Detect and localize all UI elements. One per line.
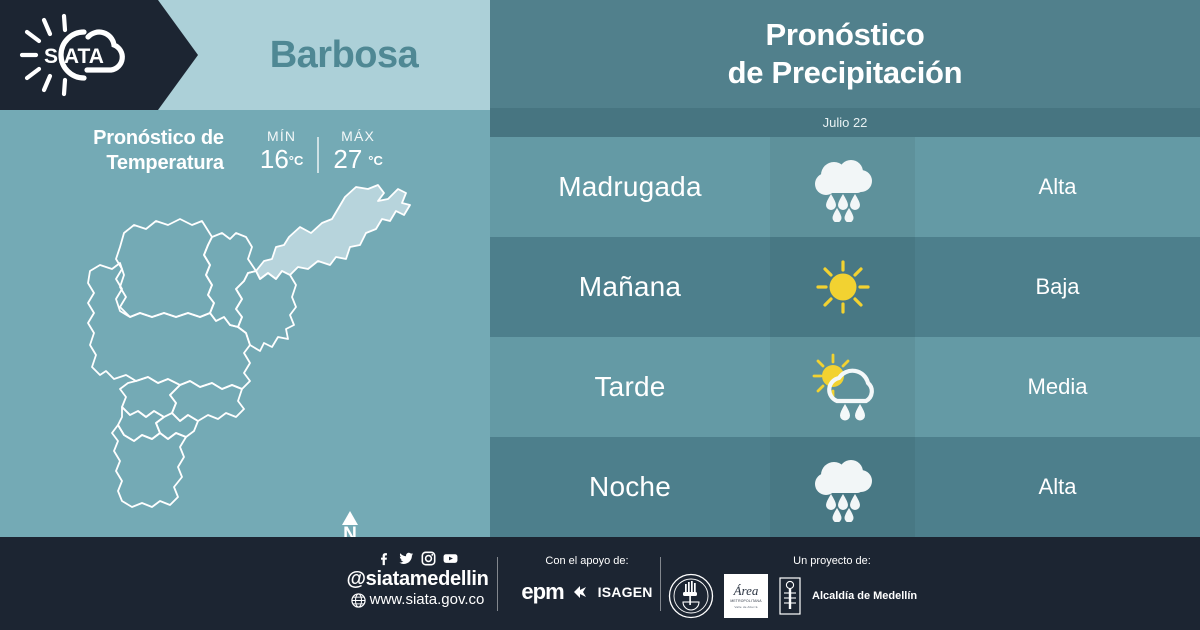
project-logos: Área METROPOLITANA Valle de Aburrá Alcal…	[668, 573, 948, 619]
footer-project-block: Un proyecto de:	[668, 555, 948, 619]
forecast-row[interactable]: Noche	[490, 437, 1200, 537]
footer-website: www.siata.gov.co	[370, 591, 485, 609]
temperature-max-label: MÁX	[341, 128, 375, 144]
forecast-rows: Madrugada	[490, 137, 1200, 537]
page-title: Barbosa	[198, 0, 490, 110]
temperature-summary: Pronóstico de Temperatura MÍN 16 °C MÁX …	[0, 118, 490, 184]
epm-logo: epm	[521, 579, 563, 605]
area-logo-name: Área	[734, 584, 759, 597]
isagen-mark-icon	[573, 585, 589, 599]
map-svg: N	[60, 175, 460, 537]
forecast-period: Tarde	[490, 371, 770, 403]
footer-handle[interactable]: @siatamedellin	[330, 568, 505, 591]
area-logo-sub1: METROPOLITANA	[730, 599, 761, 603]
temperature-max: MÁX 27 °C	[319, 128, 397, 175]
map-region-itagui[interactable]	[120, 377, 180, 417]
forecast-level: Media	[915, 374, 1200, 400]
alcaldia-crest-icon	[778, 576, 802, 616]
map-region-bello[interactable]	[116, 219, 214, 317]
sun-cloud-icon: SIATA	[14, 12, 142, 98]
map-region-envigado[interactable]	[170, 381, 244, 421]
footer: @siatamedellin www.siata.gov.co Con el a…	[0, 537, 1200, 630]
temperature-title-line1: Pronóstico de	[93, 126, 224, 151]
forecast-icon-cell	[770, 237, 915, 337]
left-panel: SIATA Barbosa Pronóstico de Temperatura …	[0, 0, 490, 537]
siata-logo-text: SIATA	[44, 45, 104, 68]
temperature-min-value: 16	[260, 145, 289, 173]
temperature-max-unit: °C	[368, 147, 383, 175]
forecast-level: Alta	[915, 474, 1200, 500]
temperature-max-value-group: 27 °C	[333, 145, 383, 175]
instagram-icon[interactable]	[421, 551, 436, 566]
temperature-min-value-group: 16 °C	[260, 145, 304, 175]
forecast-icon-cell	[770, 137, 915, 237]
sun-cloud-rain-icon	[803, 351, 883, 423]
temperature-min-unit: °C	[289, 147, 304, 175]
forecast-level: Alta	[915, 174, 1200, 200]
map-region-copacabana[interactable]	[204, 233, 256, 327]
forecast-period: Mañana	[490, 271, 770, 303]
precipitation-title-line1: Pronóstico	[766, 16, 925, 54]
map-region-caldas[interactable]	[112, 425, 186, 507]
area-metropolitana-logo: Área METROPOLITANA Valle de Aburrá	[724, 574, 768, 618]
social-icons	[330, 551, 505, 566]
rain-cloud-icon	[804, 452, 882, 522]
temperature-min: MÍN 16 °C	[246, 128, 318, 175]
north-label: N	[343, 524, 357, 537]
map-region-medellin[interactable]	[88, 263, 250, 389]
rain-cloud-icon	[804, 152, 882, 222]
temperature-values: MÍN 16 °C MÁX 27 °C	[246, 128, 397, 175]
support-logos: epm ISAGEN	[512, 579, 662, 605]
temperature-max-value: 27	[333, 145, 362, 173]
forecast-date: Julio 22	[490, 108, 1200, 137]
right-panel: Pronóstico de Precipitación Julio 22 Mad…	[490, 0, 1200, 537]
footer-social-block: @siatamedellin www.siata.gov.co	[330, 551, 505, 609]
facebook-icon[interactable]	[377, 551, 392, 566]
isagen-logo: ISAGEN	[598, 584, 653, 600]
aburra-valley-map[interactable]: N	[60, 175, 460, 537]
footer-divider-1	[497, 557, 498, 611]
globe-icon	[351, 593, 366, 608]
udea-seal-icon	[668, 573, 714, 619]
weather-forecast-infographic: SIATA Barbosa Pronóstico de Temperatura …	[0, 0, 1200, 630]
precipitation-title-line2: de Precipitación	[728, 54, 963, 92]
temperature-title-line2: Temperatura	[93, 151, 224, 176]
map-region-barbosa[interactable]	[256, 185, 410, 279]
alcaldia-label: Alcaldía de Medellín	[812, 590, 917, 602]
project-caption: Un proyecto de:	[716, 555, 948, 567]
footer-support-block: Con el apoyo de: epm ISAGEN	[512, 555, 662, 605]
siata-logo-chevron: SIATA	[0, 0, 198, 110]
forecast-period: Noche	[490, 471, 770, 503]
temperature-min-label: MÍN	[267, 128, 296, 144]
forecast-row[interactable]: Mañana	[490, 237, 1200, 337]
precipitation-header: Pronóstico de Precipitación	[490, 0, 1200, 108]
twitter-icon[interactable]	[399, 551, 414, 566]
forecast-period: Madrugada	[490, 171, 770, 203]
forecast-level: Baja	[915, 274, 1200, 300]
map-region-girardota[interactable]	[236, 271, 296, 351]
youtube-icon[interactable]	[443, 551, 458, 566]
footer-divider-2	[660, 557, 661, 611]
forecast-icon-cell	[770, 437, 915, 537]
forecast-row[interactable]: Madrugada	[490, 137, 1200, 237]
area-logo-sub2: Valle de Aburrá	[734, 605, 757, 609]
support-caption: Con el apoyo de:	[512, 555, 662, 567]
forecast-icon-cell	[770, 337, 915, 437]
sun-icon	[806, 252, 880, 322]
temperature-title: Pronóstico de Temperatura	[93, 126, 224, 176]
footer-website-row[interactable]: www.siata.gov.co	[330, 591, 505, 609]
forecast-row[interactable]: Tarde	[490, 337, 1200, 437]
north-arrow-icon: N	[342, 511, 358, 537]
